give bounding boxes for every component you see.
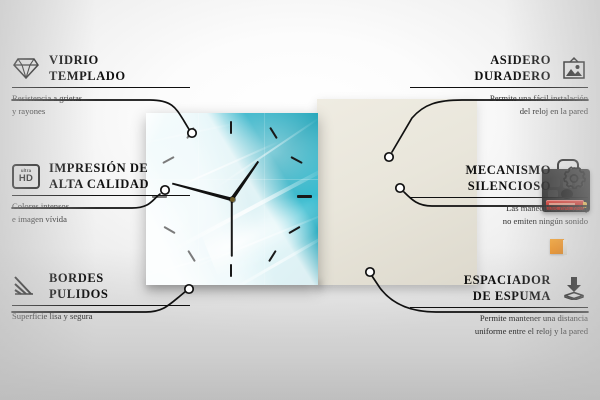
feature-title: VIDRIO TEMPLADO (49, 52, 126, 84)
picture-frame-icon (560, 56, 588, 80)
feature-desc-line: y rayones (12, 105, 190, 117)
feature-header: ASIDERO DURADERO (410, 52, 588, 84)
feature-mecanismo-silencioso: MECANISMO SILENCIOSO Las manecillas del … (410, 162, 588, 227)
clock-tick-2 (290, 156, 303, 164)
feature-espaciador-de-espuma: ESPACIADOR DE ESPUMA Permite mantener un… (410, 272, 588, 337)
feature-title: ASIDERO DURADERO (474, 52, 551, 84)
clock-tick-3 (297, 195, 312, 198)
feature-desc-line: e imagen vívida (12, 213, 190, 225)
feature-desc-line: Permite una fácil instalación (410, 92, 588, 104)
feature-header: BORDES PULIDOS (12, 270, 190, 302)
feature-title: BORDES PULIDOS (49, 270, 108, 302)
feature-header: MECANISMO SILENCIOSO (410, 162, 588, 194)
feature-desc-line: Colores intensos (12, 200, 190, 212)
foam-spacer-side (563, 240, 567, 255)
clock-tick-8 (163, 226, 175, 234)
diamond-icon (12, 56, 40, 80)
divider (12, 87, 190, 88)
feature-desc-line: Las manecillas del reloj (410, 202, 588, 214)
feature-impresion-alta-calidad: ultra HD IMPRESIÓN DE ALTA CALIDAD Color… (12, 160, 190, 225)
clock-hub (230, 197, 235, 202)
feature-asidero-duradero: ASIDERO DURADERO Permite una fácil insta… (410, 52, 588, 117)
divider (410, 197, 588, 198)
feature-bordes-pulidos: BORDES PULIDOS Superficie lisa y segura (12, 270, 190, 323)
divider (410, 307, 588, 308)
ultra-hd-icon: ultra HD (12, 164, 40, 188)
divider (12, 305, 190, 306)
clock-tick-6 (230, 264, 232, 277)
divider (410, 87, 588, 88)
foam-spacer-face (550, 239, 564, 254)
polished-edges-icon (12, 274, 40, 298)
feature-desc-line: uniforme entre el reloj y la pared (410, 325, 588, 337)
feature-desc-line: no emiten ningún sonido (410, 215, 588, 227)
infographic-canvas: VIDRIO TEMPLADO Resistencia a grietas y … (0, 0, 600, 400)
feature-vidrio-templado: VIDRIO TEMPLADO Resistencia a grietas y … (12, 52, 190, 117)
divider (12, 195, 190, 196)
feature-desc-line: Resistencia a grietas (12, 92, 190, 104)
feature-desc-line: del reloj en la pared (410, 105, 588, 117)
feature-title: MECANISMO SILENCIOSO (465, 162, 551, 194)
clock-tick-12 (230, 121, 232, 134)
feature-header: VIDRIO TEMPLADO (12, 52, 190, 84)
feature-title: IMPRESIÓN DE ALTA CALIDAD (49, 160, 149, 192)
feature-title: ESPACIADOR DE ESPUMA (464, 272, 551, 304)
ultra-hd-box: ultra HD (12, 164, 40, 189)
feature-desc-line: Permite mantener una distancia (410, 312, 588, 324)
foam-spacer (550, 239, 567, 256)
gear-icon (560, 166, 588, 190)
clock-tick-1 (269, 127, 278, 139)
feature-header: ultra HD IMPRESIÓN DE ALTA CALIDAD (12, 160, 190, 192)
feature-desc-line: Superficie lisa y segura (12, 310, 190, 322)
feature-header: ESPACIADOR DE ESPUMA (410, 272, 588, 304)
second-hand (231, 199, 233, 257)
feather-streak (146, 122, 240, 147)
down-arrow-pad-icon (560, 276, 588, 300)
